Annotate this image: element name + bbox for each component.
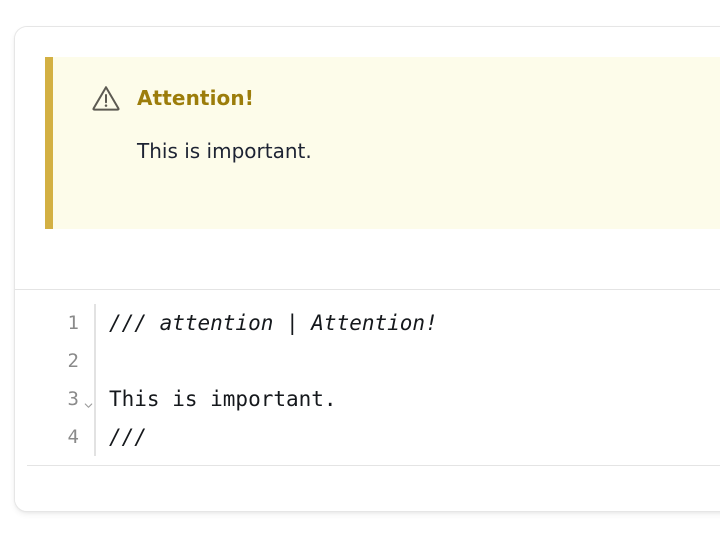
- code-line-2[interactable]: 2: [15, 342, 720, 380]
- code-editor-rows[interactable]: 1 /// attention | Attention! 2 3: [15, 304, 720, 456]
- code-line-3[interactable]: 3 This is important.: [15, 380, 720, 418]
- gutter-4: 4: [15, 418, 81, 456]
- gutter-separator: [94, 304, 96, 456]
- admonition-title: Attention!: [137, 88, 254, 108]
- fold-slot-1: [81, 304, 95, 342]
- line-number: 1: [68, 314, 81, 333]
- line-number: 3: [68, 390, 81, 409]
- code-line-text[interactable]: This is important.: [95, 380, 720, 418]
- code-line-1[interactable]: 1 /// attention | Attention!: [15, 304, 720, 342]
- editor-bottom-rule: [27, 465, 720, 466]
- gutter-2: 2: [15, 342, 81, 380]
- code-line-text[interactable]: /// attention | Attention!: [95, 304, 720, 342]
- preview-page: Attention! This is important. 1 /// atte…: [0, 0, 720, 544]
- fold-slot-2: [81, 342, 95, 380]
- gutter-3: 3: [15, 380, 81, 418]
- admonition-demo-card: Attention! This is important. 1 /// atte…: [14, 26, 720, 512]
- warning-triangle-icon: [91, 84, 121, 112]
- code-editor-pane[interactable]: 1 /// attention | Attention! 2 3: [15, 290, 720, 466]
- line-number: 2: [68, 352, 81, 371]
- gutter-1: 1: [15, 304, 81, 342]
- code-line-text[interactable]: ///: [95, 418, 720, 456]
- fold-slot-3[interactable]: [81, 380, 95, 418]
- fold-slot-4: [81, 418, 95, 456]
- admonition-attention: Attention! This is important.: [45, 57, 720, 229]
- admonition-header: Attention!: [91, 83, 720, 113]
- line-number: 4: [68, 428, 81, 447]
- rendered-preview-pane: Attention! This is important.: [15, 27, 720, 289]
- admonition-body-text: This is important.: [91, 137, 720, 166]
- code-line-4[interactable]: 4 ///: [15, 418, 720, 456]
- card-footer-space: [15, 466, 720, 512]
- chevron-down-icon[interactable]: [84, 395, 93, 404]
